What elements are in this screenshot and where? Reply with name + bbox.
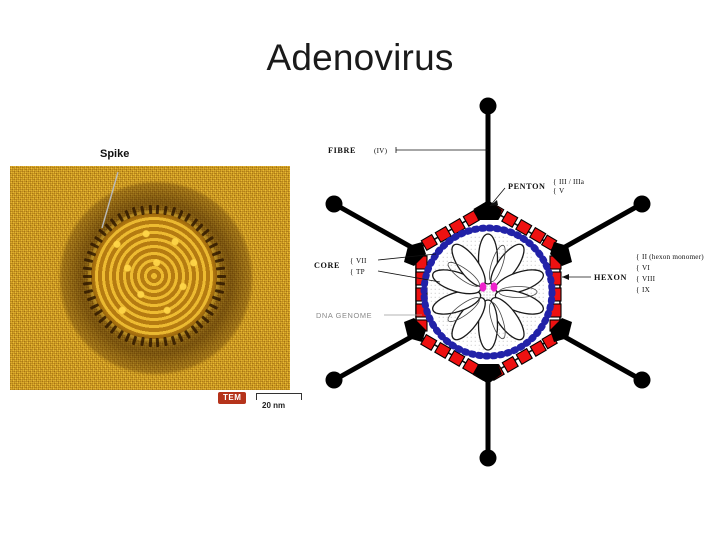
tem-capsomere-spike [190, 218, 198, 227]
tem-capsomere-spike [163, 337, 168, 346]
tem-capsomere-spike [117, 329, 124, 338]
label-core-brace-2: { [350, 268, 354, 276]
label-penton-protein-0: III / IIIa [559, 178, 585, 186]
tem-capsomere-spike [217, 275, 226, 278]
tem-capsomere-spike [86, 250, 95, 256]
tem-capsomere-spike [93, 235, 102, 242]
tem-capsomere-spike-ring [80, 202, 228, 350]
adenovirus-diagram: FIBRE (IV) PENTON { III / IIIa { V HEXON… [306, 96, 710, 468]
label-hexon-protein-0: II (hexon monomer) [642, 253, 704, 261]
tem-capsomere-spike [212, 296, 221, 302]
tem-capsomere-spike [184, 213, 191, 222]
tem-capsomere-spike [110, 325, 118, 334]
tem-capsomere-spike [216, 282, 225, 286]
tem-capsomere-spike [156, 205, 160, 214]
label-core-protein-0: VII [356, 257, 367, 265]
tem-scale-row: TEM 20 nm [218, 390, 298, 412]
tem-capsomere-spike [209, 243, 218, 250]
label-penton-name: PENTON [508, 182, 546, 191]
label-hexon-brace-4: { [636, 286, 640, 294]
tem-capsomere-spike [190, 325, 198, 334]
tem-capsomere-spike [205, 235, 214, 242]
label-fibre-protein: (IV) [374, 147, 388, 155]
label-core-name: CORE [314, 261, 340, 270]
label-core-protein-1: TP [356, 268, 365, 276]
label-hexon: HEXON { II (hexon monomer) { VI { VIII {… [562, 253, 704, 294]
label-hexon-protein-1: VI [642, 264, 650, 272]
label-dna-genome: DNA GENOME [316, 311, 422, 320]
tem-capsomere-spike [212, 250, 221, 256]
dna-genome-core [430, 234, 546, 350]
label-dna-genome-name: DNA GENOME [316, 311, 372, 320]
tem-capsomere-spike [124, 333, 130, 342]
tem-micrograph-image [10, 166, 290, 390]
spike-label: Spike [100, 148, 129, 160]
tem-capsomere-spike [184, 329, 191, 338]
tem-capsomere-spike [132, 335, 137, 344]
tem-capsomere-spike [83, 275, 92, 278]
page-title: Adenovirus [0, 38, 720, 79]
tem-capsomere-spike [148, 205, 152, 214]
tem-capsomere-spike [83, 266, 92, 270]
label-hexon-protein-3: IX [642, 286, 651, 294]
tem-capsomere-spike [124, 210, 130, 219]
slide-canvas: Adenovirus Spike TEM 20 nm [0, 0, 720, 540]
label-hexon-brace-3: { [636, 275, 640, 283]
label-hexon-protein-2: VIII [642, 275, 656, 283]
tem-capsomere-spike [196, 223, 204, 232]
tem-capsomere-spike [83, 282, 92, 286]
tem-capsomere-spike [98, 315, 107, 323]
tem-capsomere-spike [140, 205, 145, 214]
tem-capsomere-spike [209, 303, 218, 310]
tem-capsomere-spike [214, 289, 223, 294]
tem-capsomere-spike [132, 207, 137, 216]
tem-capsomere-spike [177, 210, 183, 219]
tem-capsomere-spike [89, 303, 98, 310]
tem-capsomere-spike [86, 296, 95, 302]
tem-capsomere-spike [156, 338, 160, 347]
label-hexon-name: HEXON [594, 273, 627, 282]
tem-capsomere-spike [216, 266, 225, 270]
tem-capsomere-spike [196, 320, 204, 329]
tem-capsomere-spike [117, 213, 124, 222]
tem-capsomere-spike [104, 320, 112, 329]
tem-capsomere-spike [110, 218, 118, 227]
label-penton-brace-2: { [553, 187, 557, 195]
tem-capsomere-spike [201, 229, 210, 237]
tem-micrograph-figure [10, 166, 290, 390]
label-fibre: FIBRE (IV) [328, 146, 488, 155]
tem-capsomere-spike [214, 258, 223, 263]
tem-capsomere-spike [140, 337, 145, 346]
tem-capsomere-spike [89, 243, 98, 250]
tem-capsomere-spike [170, 207, 175, 216]
label-hexon-brace-1: { [636, 253, 640, 261]
tem-capsomere-spike [84, 289, 93, 294]
tem-capsomere-spike [98, 229, 107, 237]
tem-capsomere-spike [93, 309, 102, 316]
tem-capsomere-spike [177, 333, 183, 342]
tem-capsomere-spike [163, 205, 168, 214]
label-penton-protein-1: V [559, 187, 565, 195]
tem-capsomere-spike [201, 315, 210, 323]
scale-bar-label: 20 nm [262, 401, 285, 410]
tem-modality-badge: TEM [218, 392, 246, 404]
label-fibre-name: FIBRE [328, 146, 356, 155]
tem-capsomere-spike [84, 258, 93, 263]
label-core-brace-1: { [350, 257, 354, 265]
label-hexon-brace-2: { [636, 264, 640, 272]
label-penton-brace-1: { [553, 178, 557, 186]
tem-capsomere-spike [205, 309, 214, 316]
tem-capsomere-spike [170, 335, 175, 344]
label-penton: PENTON { III / IIIa { V [490, 178, 585, 206]
tem-capsomere-spike [104, 223, 112, 232]
tem-capsomere-spike [148, 338, 152, 347]
scale-bar [256, 393, 302, 400]
